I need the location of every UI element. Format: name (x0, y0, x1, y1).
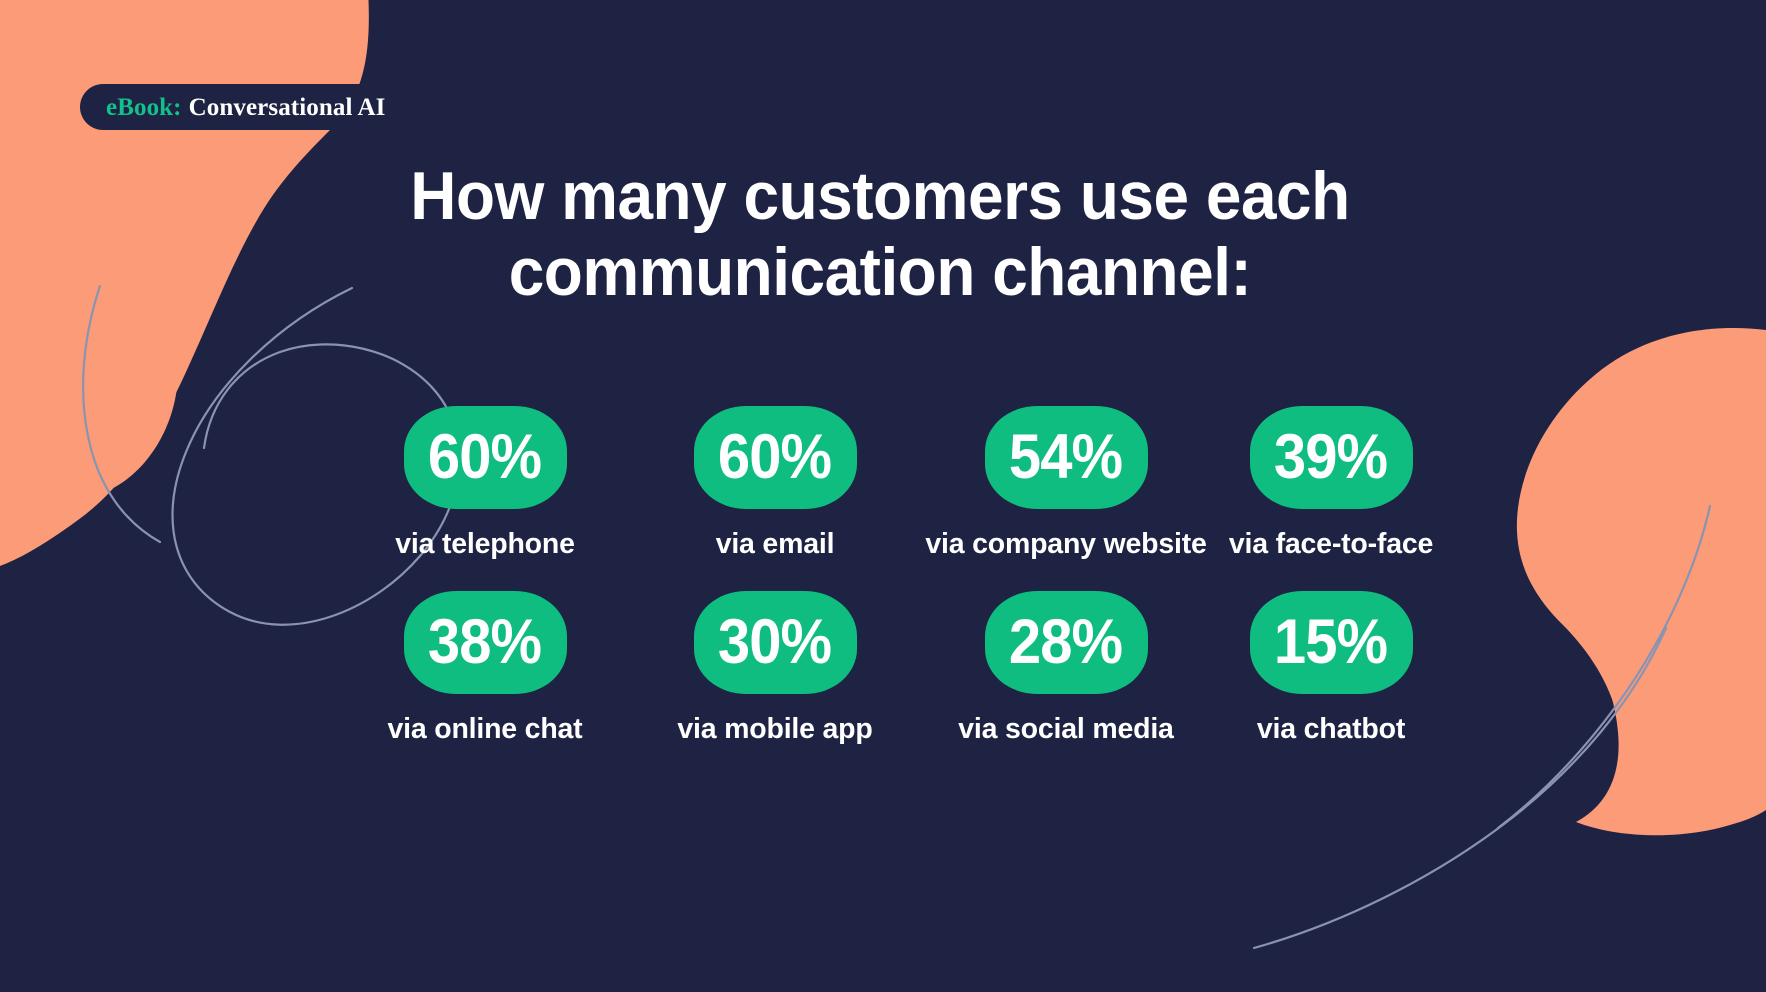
stat-item-social-media: 28% via social media (920, 591, 1212, 745)
stat-row-2: 38% via online chat 30% via mobile app 2… (340, 591, 1450, 745)
stat-pill-chatbot: 15% (1250, 591, 1413, 694)
stat-label-email: via email (716, 529, 835, 560)
stat-pill-telephone: 60% (404, 406, 567, 509)
stat-row-1: 60% via telephone 60% via email 54% via … (340, 406, 1450, 560)
page-title: How many customers use each communicatio… (300, 158, 1460, 310)
stat-label-face-to-face: via face-to-face (1229, 529, 1433, 560)
stat-pill-social-media: 28% (985, 591, 1148, 694)
stat-value-face-to-face: 39% (1274, 426, 1387, 489)
stat-label-social-media: via social media (958, 714, 1173, 745)
ebook-badge: eBook: Conversational AI (80, 84, 411, 130)
stat-pill-mobile-app: 30% (694, 591, 857, 694)
stat-item-company-website: 54% via company website (920, 406, 1212, 560)
stat-item-chatbot: 15% via chatbot (1212, 591, 1450, 745)
decorative-curve-right-icon (1498, 506, 1710, 828)
stat-value-online-chat: 38% (428, 611, 541, 674)
stat-label-company-website: via company website (925, 529, 1206, 560)
stat-value-email: 60% (718, 426, 831, 489)
stat-item-telephone: 60% via telephone (340, 406, 630, 560)
page-title-line-1: How many customers use each (335, 158, 1425, 234)
stat-item-mobile-app: 30% via mobile app (630, 591, 920, 745)
stat-value-telephone: 60% (428, 426, 541, 489)
stat-pill-email: 60% (694, 406, 857, 509)
stat-pill-online-chat: 38% (404, 591, 567, 694)
coral-blob-right-icon (1517, 328, 1766, 833)
infographic-canvas: eBook: Conversational AI How many custom… (0, 0, 1766, 992)
stat-value-mobile-app: 30% (718, 611, 831, 674)
stat-label-chatbot: via chatbot (1257, 714, 1405, 745)
stat-item-email: 60% via email (630, 406, 920, 560)
stat-pill-company-website: 54% (985, 406, 1148, 509)
ebook-badge-title: Conversational AI (182, 95, 386, 120)
stat-label-telephone: via telephone (395, 529, 575, 560)
coral-blob-right-lower-icon (1556, 576, 1766, 835)
stat-value-chatbot: 15% (1274, 611, 1387, 674)
page-title-line-2: communication channel: (335, 234, 1425, 310)
coral-blob-left-lower-icon (0, 120, 178, 501)
stat-pill-face-to-face: 39% (1250, 406, 1413, 509)
decorative-curve-left-upper-icon (83, 286, 160, 542)
stat-value-social-media: 28% (1009, 611, 1122, 674)
stat-label-mobile-app: via mobile app (677, 714, 872, 745)
stat-item-face-to-face: 39% via face-to-face (1212, 406, 1450, 560)
stat-item-online-chat: 38% via online chat (340, 591, 630, 745)
ebook-badge-kicker: eBook: (106, 95, 182, 120)
stat-grid: 60% via telephone 60% via email 54% via … (340, 406, 1450, 746)
stat-value-company-website: 54% (1009, 426, 1122, 489)
stat-label-online-chat: via online chat (388, 714, 583, 745)
